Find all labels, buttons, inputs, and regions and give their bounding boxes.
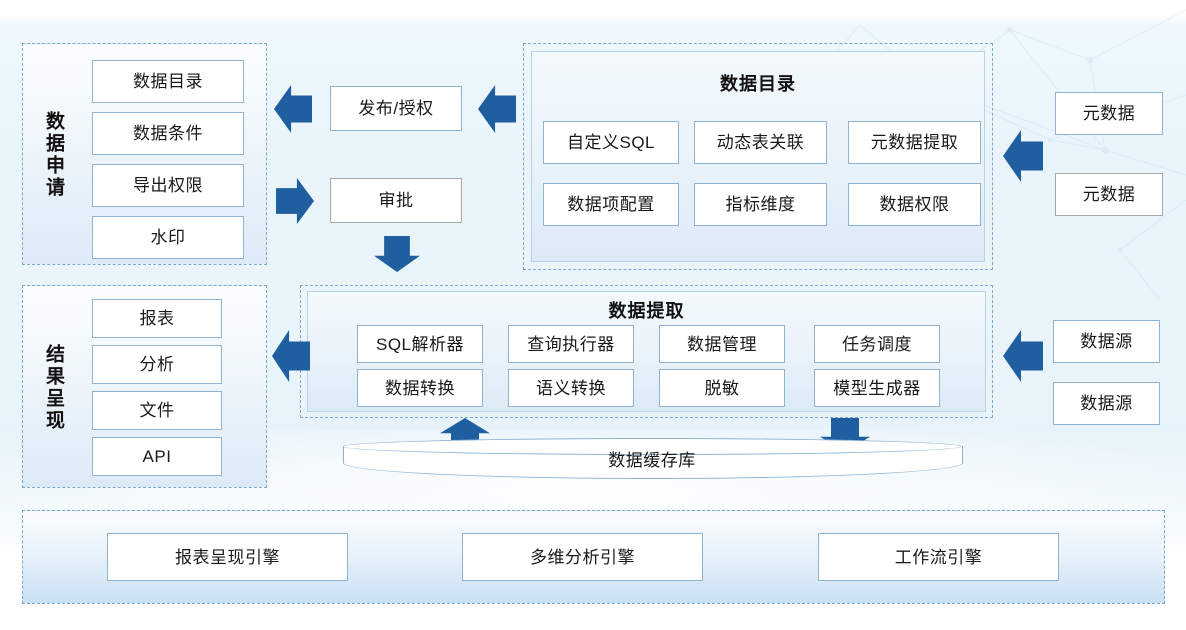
box-data-application-item-4[interactable]: 水印 (92, 216, 244, 259)
box-engine-2[interactable]: 多维分析引擎 (462, 533, 703, 581)
box-result-presentation-item-2[interactable]: 分析 (92, 345, 222, 384)
cache-database-label: 数据缓存库 (343, 438, 961, 478)
box-data-source-2[interactable]: 数据源 (1053, 382, 1160, 425)
box-engine-3[interactable]: 工作流引擎 (818, 533, 1059, 581)
box-data-catalog-item-6[interactable]: 数据权限 (848, 183, 981, 226)
data-extraction-title: 数据提取 (307, 297, 986, 323)
box-data-extraction-item-8[interactable]: 模型生成器 (814, 369, 940, 407)
box-data-catalog-item-2[interactable]: 动态表关联 (694, 121, 827, 164)
box-data-catalog-item-4[interactable]: 数据项配置 (543, 183, 679, 226)
architecture-diagram: 数据申请 数据目录 数据条件 导出权限 水印 结果呈现 报表 分析 文件 API… (0, 0, 1186, 630)
box-data-extraction-item-7[interactable]: 脱敏 (659, 369, 785, 407)
box-data-source-1[interactable]: 数据源 (1053, 320, 1160, 363)
data-application-label: 数据申请 (32, 55, 74, 255)
box-data-extraction-item-1[interactable]: SQL解析器 (357, 325, 483, 363)
box-data-catalog-item-3[interactable]: 元数据提取 (848, 121, 981, 164)
box-data-extraction-item-5[interactable]: 数据转换 (357, 369, 483, 407)
box-publish-authorize[interactable]: 发布/授权 (330, 86, 462, 131)
box-data-extraction-item-4[interactable]: 任务调度 (814, 325, 940, 363)
box-approve[interactable]: 审批 (330, 178, 462, 223)
box-data-application-item-3[interactable]: 导出权限 (92, 164, 244, 207)
cache-database-cylinder: 数据缓存库 (343, 438, 961, 478)
box-result-presentation-item-3[interactable]: 文件 (92, 391, 222, 430)
box-data-application-item-1[interactable]: 数据目录 (92, 60, 244, 103)
box-metadata-source-2[interactable]: 元数据 (1055, 173, 1163, 216)
box-data-extraction-item-6[interactable]: 语义转换 (508, 369, 634, 407)
box-data-catalog-item-1[interactable]: 自定义SQL (543, 121, 679, 164)
result-presentation-label: 结果呈现 (32, 300, 74, 475)
box-engine-1[interactable]: 报表呈现引擎 (107, 533, 348, 581)
box-result-presentation-item-1[interactable]: 报表 (92, 299, 222, 338)
box-data-catalog-item-5[interactable]: 指标维度 (694, 183, 827, 226)
box-result-presentation-item-4[interactable]: API (92, 437, 222, 476)
box-data-application-item-2[interactable]: 数据条件 (92, 112, 244, 155)
box-data-extraction-item-3[interactable]: 数据管理 (659, 325, 785, 363)
box-metadata-source-1[interactable]: 元数据 (1055, 92, 1163, 135)
data-catalog-title: 数据目录 (531, 70, 985, 96)
box-data-extraction-item-2[interactable]: 查询执行器 (508, 325, 634, 363)
